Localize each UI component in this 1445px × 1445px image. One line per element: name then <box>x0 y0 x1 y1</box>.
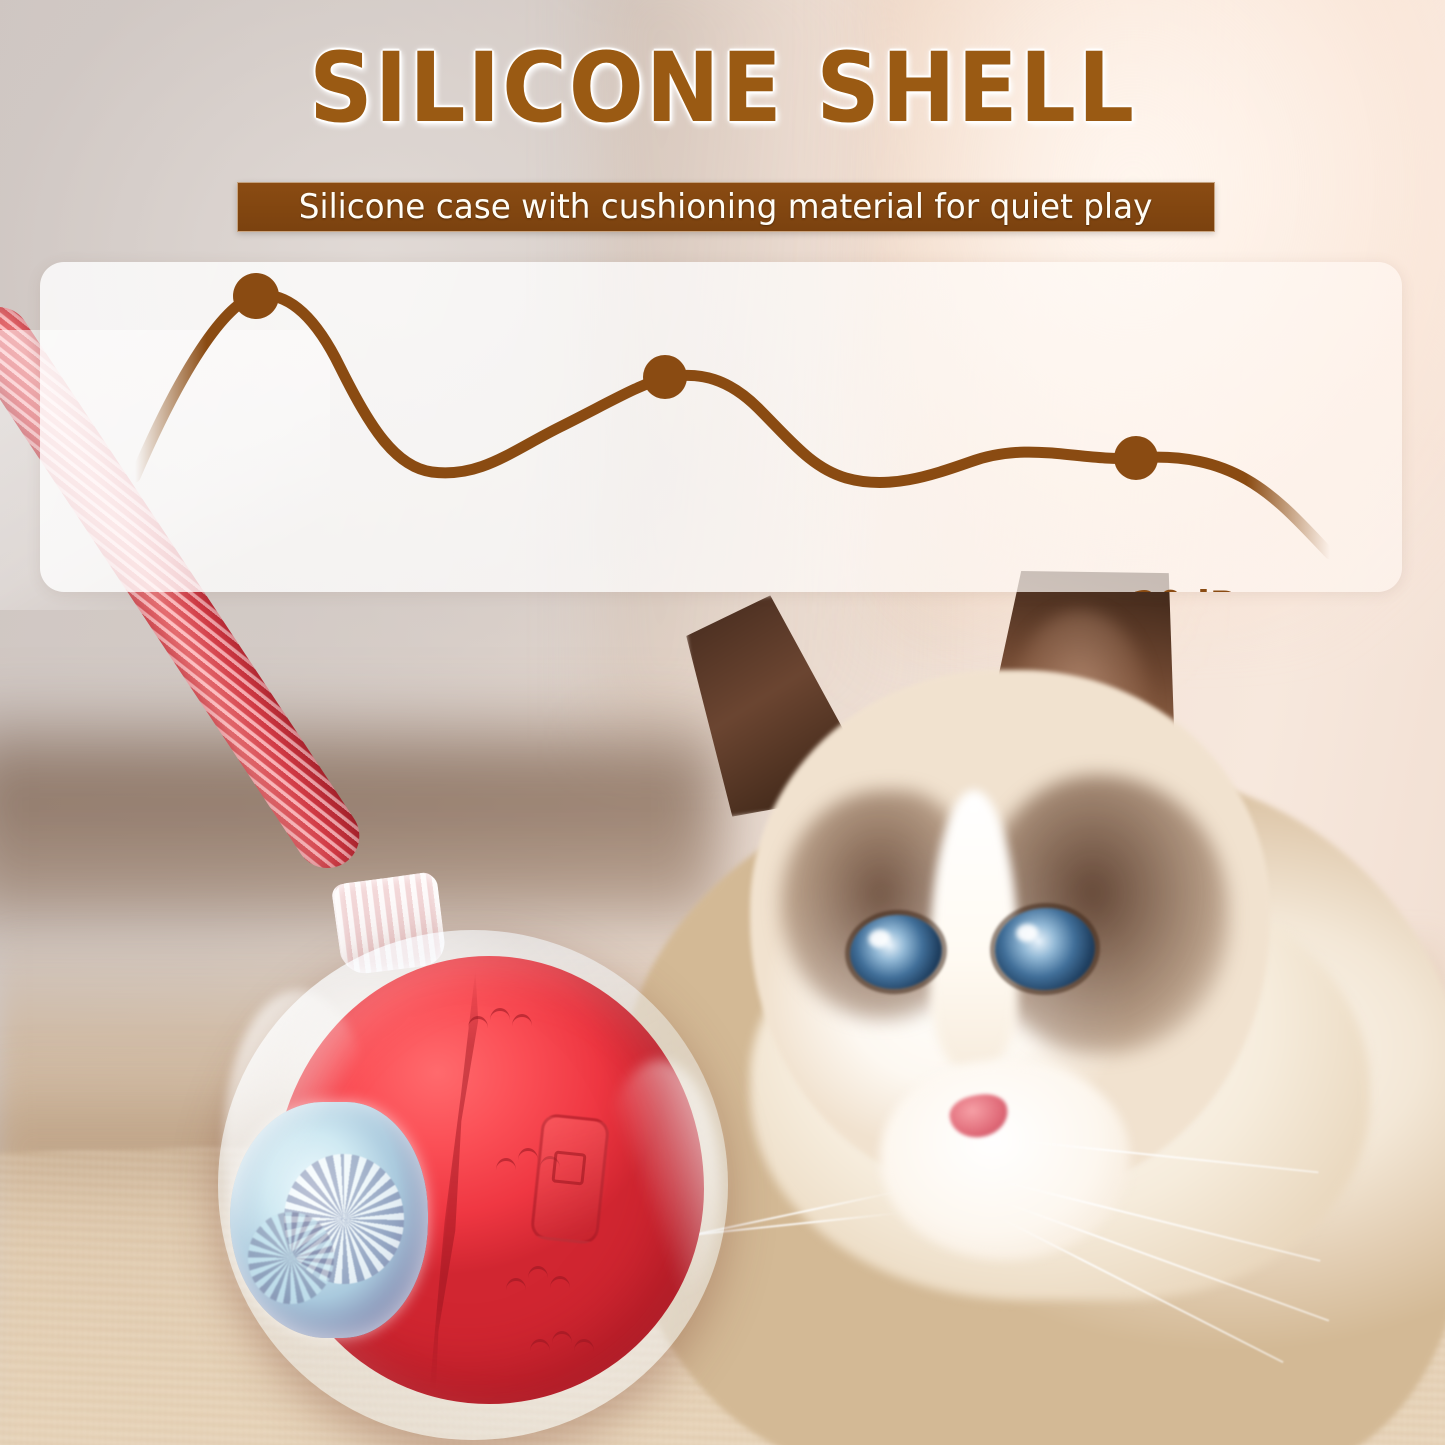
ball-highlight-right <box>600 1060 720 1310</box>
product-toy-ball <box>218 930 728 1440</box>
paw-print-emboss <box>530 1325 596 1369</box>
subtitle-banner: Silicone case with cushioning material f… <box>237 182 1215 232</box>
wave-label-night-db: 20dB <box>1057 585 1312 592</box>
wave-point-hairdryer <box>233 273 279 319</box>
wave-point-night <box>1114 436 1158 480</box>
wave-point-toyball <box>643 355 687 399</box>
paw-print-emboss <box>468 1000 534 1044</box>
subtitle-text: Silicone case with cushioning material f… <box>299 187 1153 227</box>
noise-comparison-panel: 80dB Hairdryer ≤50dB Toy ball 20dB Night <box>40 262 1402 592</box>
cat-muzzle <box>880 1060 1130 1260</box>
paw-print-emboss <box>506 1260 572 1304</box>
ball-highlight-left <box>224 990 374 1290</box>
wave-label-night: 20dB Night <box>1040 585 1330 592</box>
page-title: SILICONE SHELL <box>58 40 1387 136</box>
ball-button-glyph-icon <box>551 1150 586 1185</box>
product-marketing-image: 80dB Hairdryer ≤50dB Toy ball 20dB Night… <box>0 0 1445 1445</box>
noise-wave-line <box>135 295 1330 554</box>
noise-wave-chart <box>40 262 1402 592</box>
